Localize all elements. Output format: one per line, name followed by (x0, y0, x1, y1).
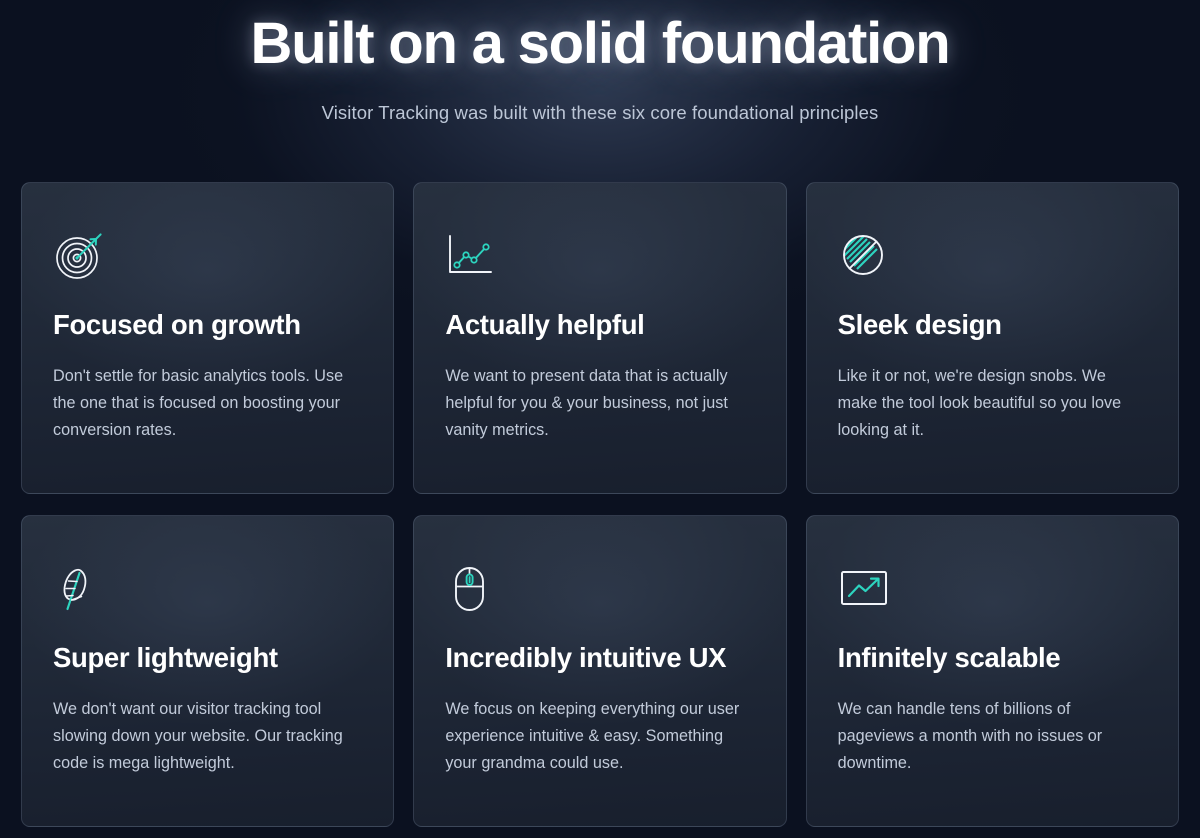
principle-card-focused-on-growth[interactable]: Focused on growth Don't settle for basic… (21, 182, 394, 494)
page-subtitle: Visitor Tracking was built with these si… (21, 100, 1179, 126)
card-body: We focus on keeping everything our user … (445, 696, 754, 777)
principle-card-actually-helpful[interactable]: Actually helpful We want to present data… (413, 182, 786, 494)
computer-mouse-icon (445, 563, 754, 615)
card-body: Don't settle for basic analytics tools. … (53, 363, 362, 444)
principle-card-incredibly-intuitive-ux[interactable]: Incredibly intuitive UX We focus on keep… (413, 515, 786, 827)
feather-icon (53, 563, 362, 615)
framed-trend-arrow-icon (838, 563, 1147, 615)
principle-card-sleek-design[interactable]: Sleek design Like it or not, we're desig… (806, 182, 1179, 494)
line-chart-icon (445, 230, 754, 282)
page-title: Built on a solid foundation (21, 8, 1179, 80)
card-title: Incredibly intuitive UX (445, 641, 754, 675)
card-title: Actually helpful (445, 308, 754, 342)
principle-card-infinitely-scalable[interactable]: Infinitely scalable We can handle tens o… (806, 515, 1179, 827)
card-body: We can handle tens of billions of pagevi… (838, 696, 1147, 777)
card-title: Focused on growth (53, 308, 362, 342)
hatched-circle-icon (838, 230, 1147, 282)
card-title: Sleek design (838, 308, 1147, 342)
card-title: Super lightweight (53, 641, 362, 675)
card-body: Like it or not, we're design snobs. We m… (838, 363, 1147, 444)
principles-card-grid: Focused on growth Don't settle for basic… (21, 182, 1179, 827)
card-title: Infinitely scalable (838, 641, 1147, 675)
foundation-section: Built on a solid foundation Visitor Trac… (0, 0, 1200, 838)
card-body: We don't want our visitor tracking tool … (53, 696, 362, 777)
target-arrow-icon (53, 230, 362, 282)
principle-card-super-lightweight[interactable]: Super lightweight We don't want our visi… (21, 515, 394, 827)
section-header: Built on a solid foundation Visitor Trac… (21, 0, 1179, 126)
card-body: We want to present data that is actually… (445, 363, 754, 444)
